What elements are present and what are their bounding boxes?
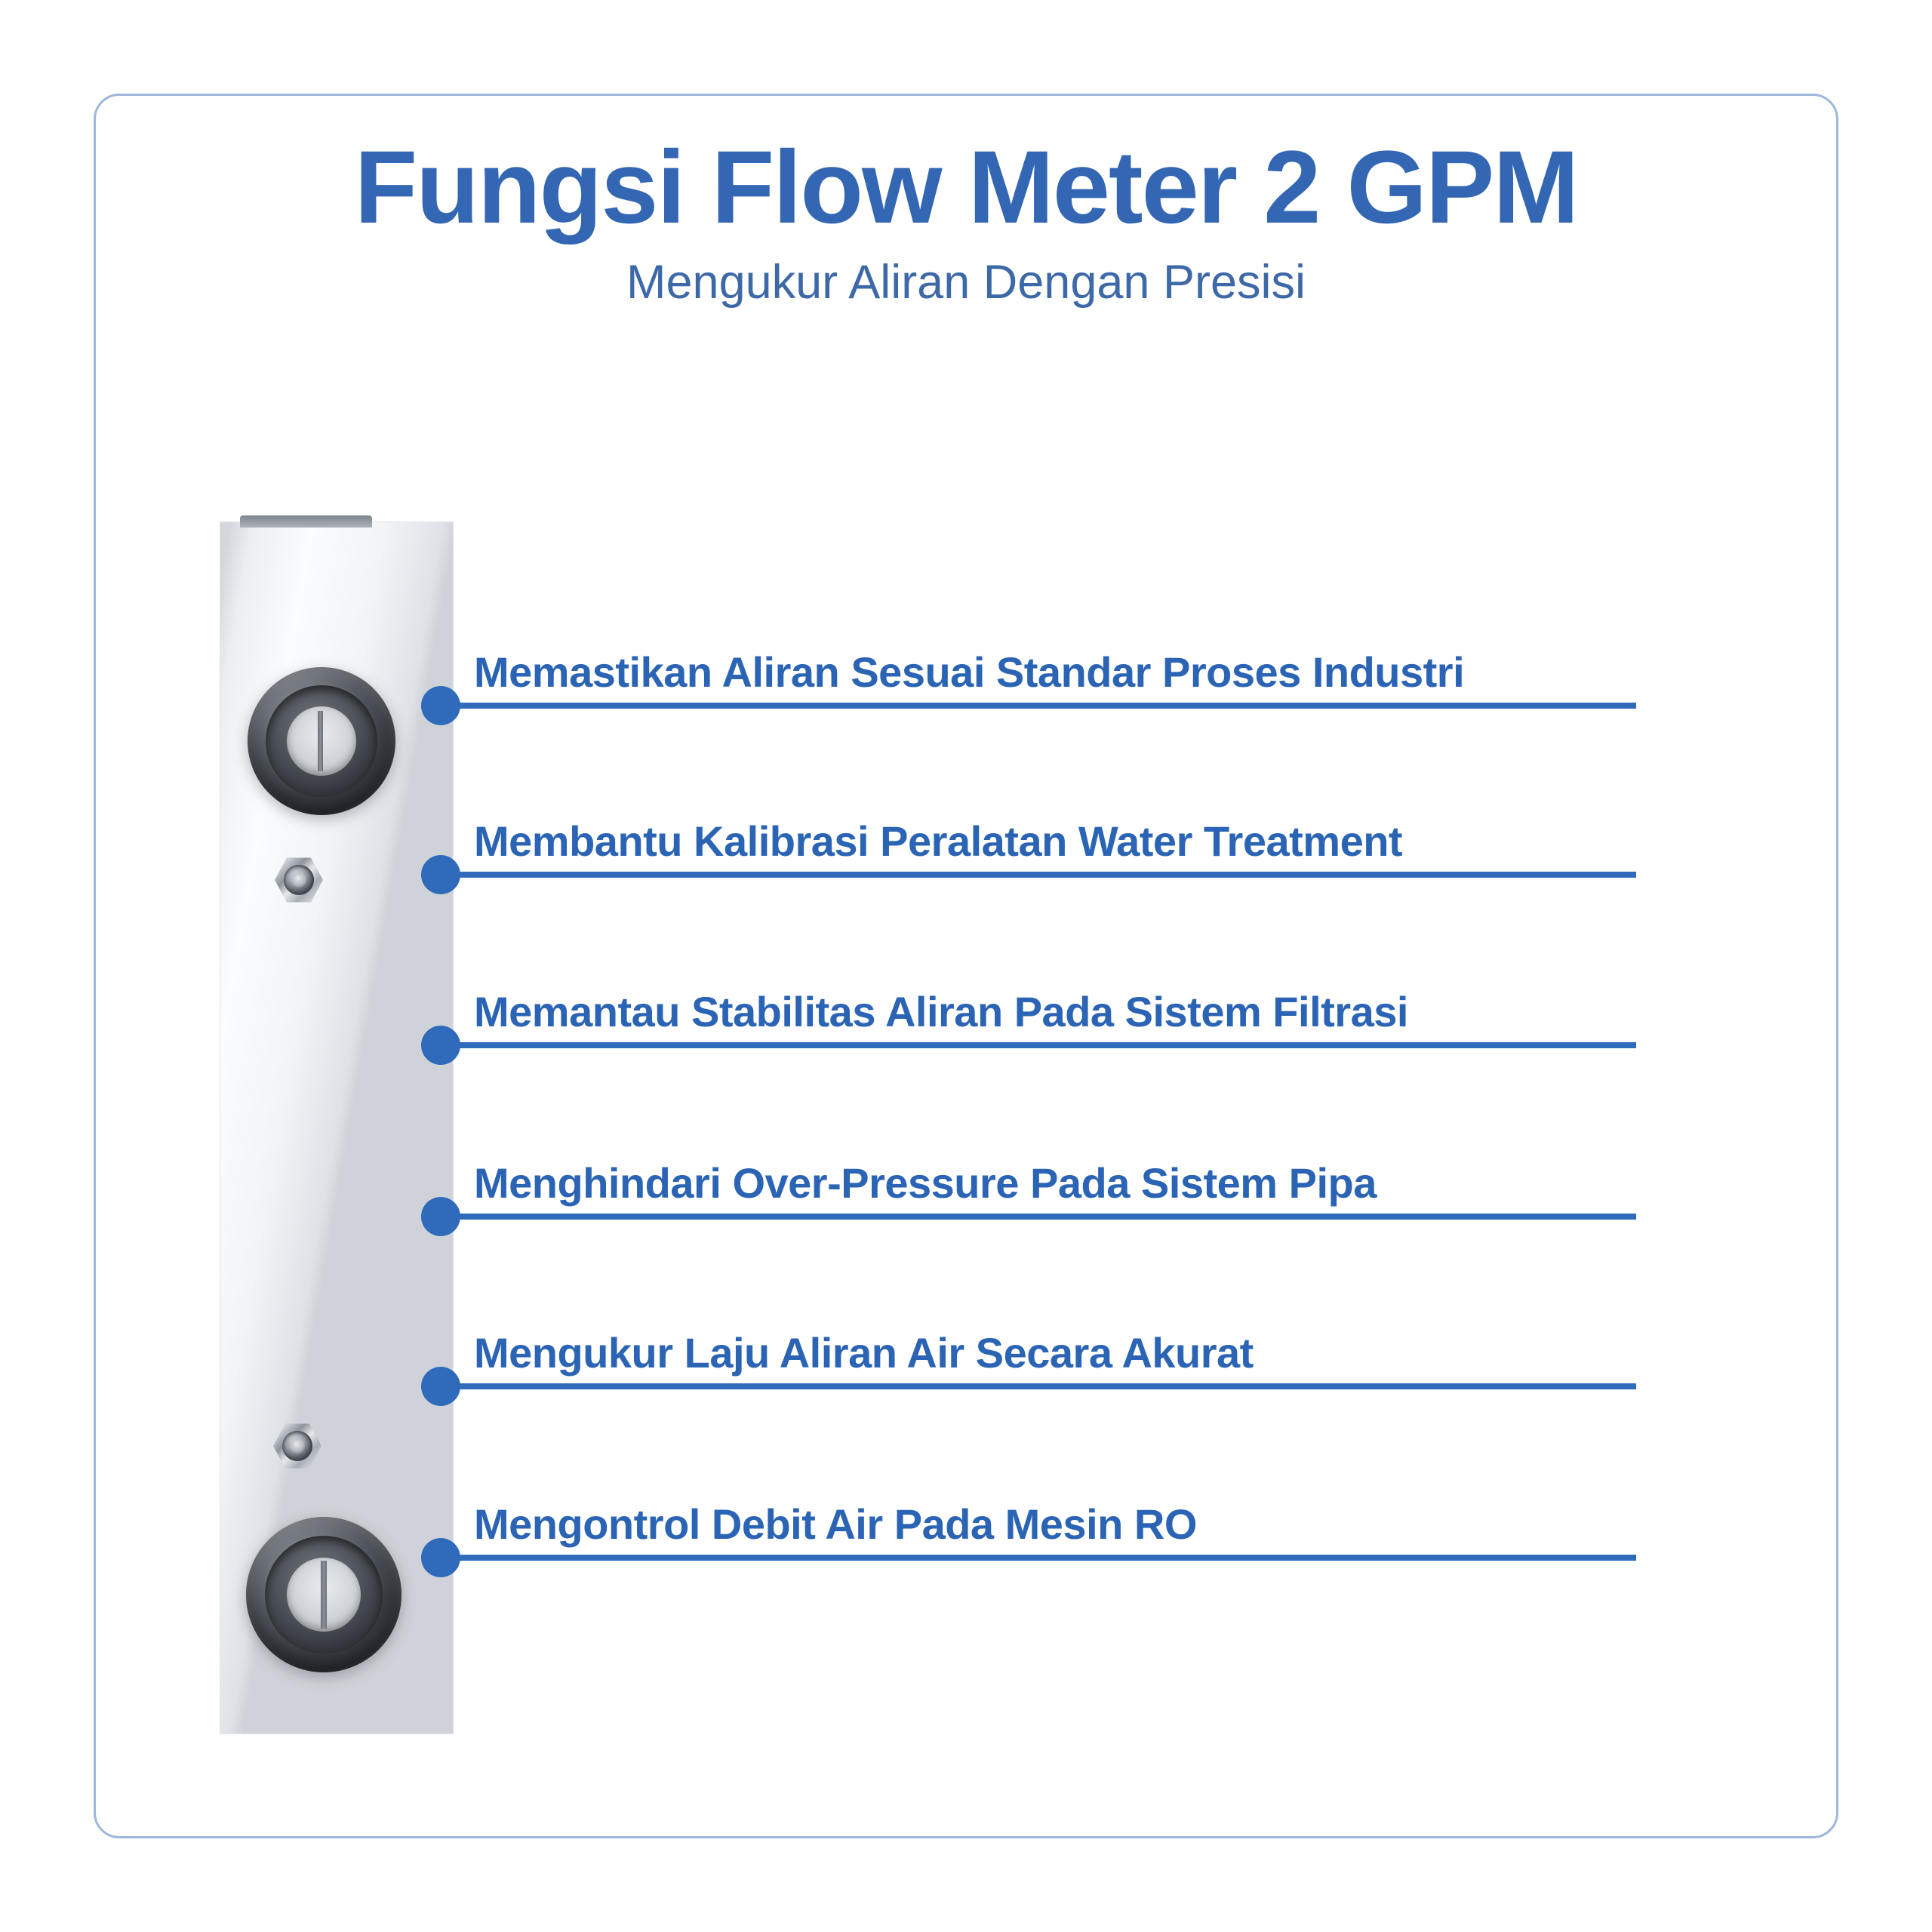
feature-label: Membantu Kalibrasi Peralatan Water Treat… — [474, 820, 1402, 863]
feature-rule — [444, 1555, 1636, 1561]
bullet-dot-icon — [421, 1367, 460, 1406]
bullet-dot-icon — [421, 1197, 460, 1236]
bullet-dot-icon — [421, 855, 460, 894]
bullet-dot-icon — [421, 686, 460, 725]
feature-label: Mengontrol Debit Air Pada Mesin RO — [474, 1503, 1197, 1546]
feature-rule — [444, 1383, 1636, 1389]
feature-item: Mengukur Laju Aliran Air Secara Akurat — [421, 1383, 1636, 1386]
feature-rule — [444, 703, 1636, 709]
feature-item: Memantau Stabilitas Aliran Pada Sistem F… — [421, 1042, 1636, 1045]
feature-label: Memastikan Aliran Sesuai Standar Proses … — [474, 651, 1464, 694]
bullet-dot-icon — [421, 1026, 460, 1065]
bullet-dot-icon — [421, 1538, 460, 1577]
feature-list: Memastikan Aliran Sesuai Standar Proses … — [96, 96, 1836, 1836]
feature-label: Menghindari Over-Pressure Pada Sistem Pi… — [474, 1162, 1377, 1204]
feature-rule — [444, 1214, 1636, 1220]
feature-label: Memantau Stabilitas Aliran Pada Sistem F… — [474, 991, 1408, 1033]
feature-label: Mengukur Laju Aliran Air Secara Akurat — [474, 1332, 1254, 1374]
feature-rule — [444, 1042, 1636, 1048]
feature-item: Membantu Kalibrasi Peralatan Water Treat… — [421, 872, 1636, 875]
infographic-card: Fungsi Flow Meter 2 GPM Mengukur Aliran … — [94, 94, 1838, 1838]
feature-item: Memastikan Aliran Sesuai Standar Proses … — [421, 703, 1636, 706]
feature-item: Menghindari Over-Pressure Pada Sistem Pi… — [421, 1214, 1636, 1217]
feature-item: Mengontrol Debit Air Pada Mesin RO — [421, 1555, 1636, 1558]
feature-rule — [444, 872, 1636, 878]
